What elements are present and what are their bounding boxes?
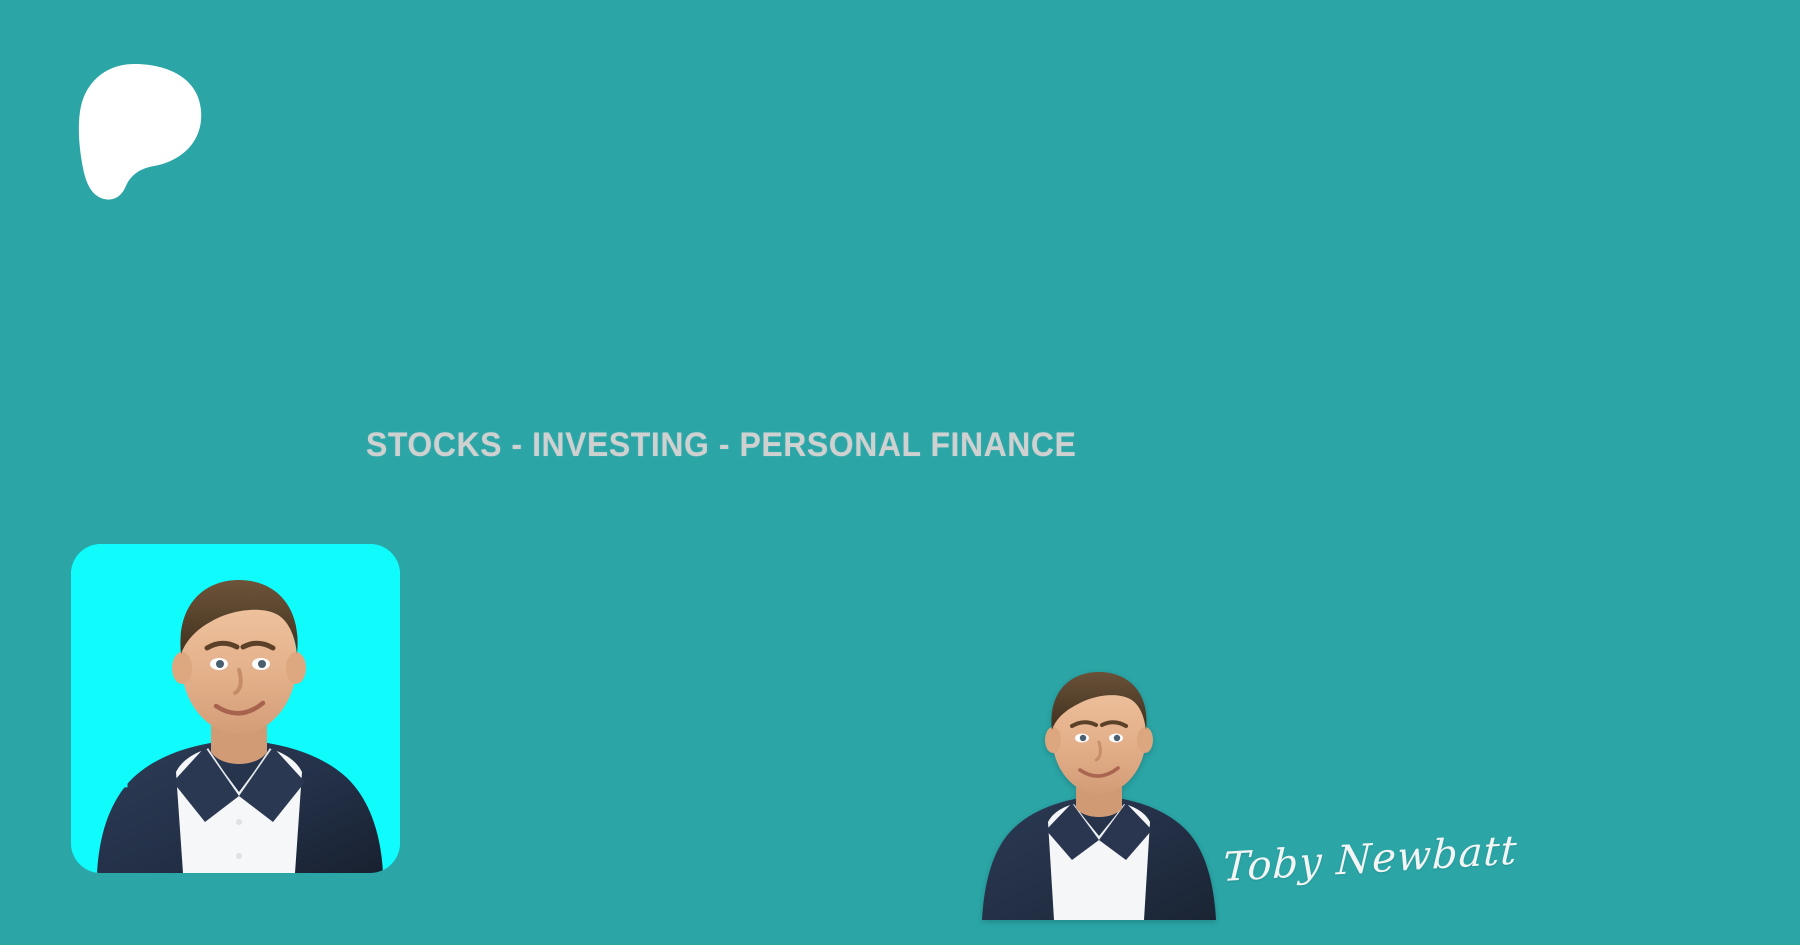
banner-tagline: STOCKS - INVESTING - PERSONAL FINANCE — [366, 428, 1076, 462]
banner-portrait-image — [968, 648, 1230, 920]
creator-avatar[interactable] — [71, 544, 400, 873]
creator-page-canvas: STOCKS - INVESTING - PERSONAL FINANCE — [0, 0, 1800, 945]
patreon-logo-icon[interactable] — [72, 62, 204, 202]
banner-signature: Toby Newbatt — [1222, 830, 1518, 888]
